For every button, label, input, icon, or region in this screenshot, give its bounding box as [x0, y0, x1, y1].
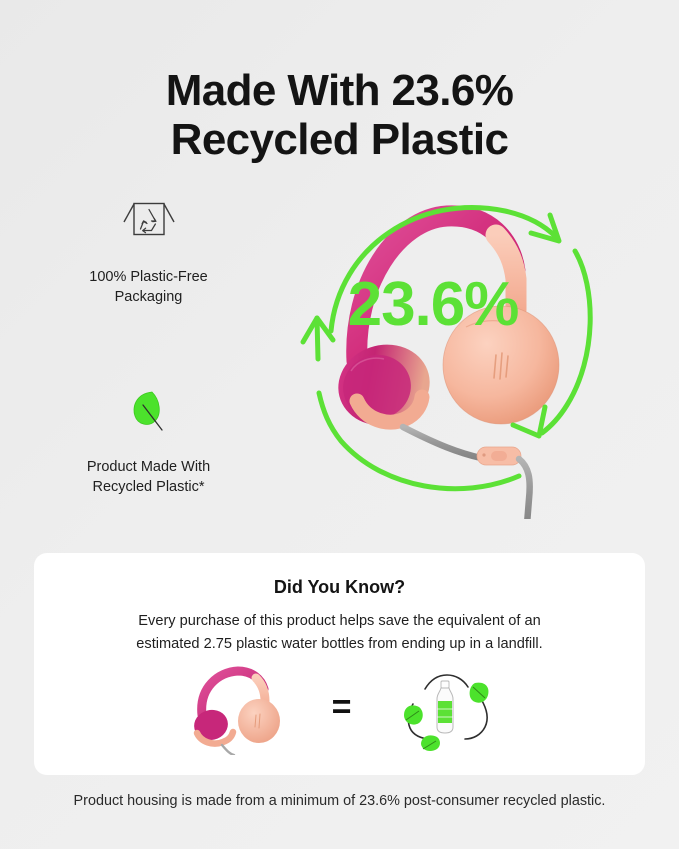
equals-sign: =: [332, 690, 352, 724]
card-body-line-1: Every purchase of this product helps sav…: [138, 613, 540, 629]
feature-label-line-2: Recycled Plastic*: [92, 479, 204, 495]
middle-section: 100% Plastic-Free Packaging Product Made…: [0, 185, 679, 530]
percentage-callout: 23.6%: [253, 274, 613, 336]
bottle-recycle-icon: [395, 665, 499, 753]
feature-label: 100% Plastic-Free Packaging: [36, 267, 261, 308]
footer-disclaimer: Product housing is made from a minimum o…: [0, 793, 679, 809]
feature-label-line-1: 100% Plastic-Free: [89, 269, 207, 285]
headphones-icon: [180, 663, 288, 755]
page-title-line-1: Made With 23.6%: [0, 66, 679, 115]
hero-graphic: 23.6%: [253, 179, 613, 519]
card-body-line-2: estimated 2.75 plastic water bottles fro…: [136, 636, 542, 652]
recycle-box-icon: [36, 193, 261, 255]
feature-label-line-1: Product Made With: [87, 459, 210, 475]
feature-label-line-2: Packaging: [115, 289, 183, 305]
infographic-page: Made With 23.6% Recycled Plastic: [0, 0, 679, 849]
page-title-line-2: Recycled Plastic: [0, 115, 679, 164]
recycling-arrows-loop: [253, 179, 613, 519]
feature-list: 100% Plastic-Free Packaging Product Made…: [36, 193, 261, 498]
did-you-know-card: Did You Know? Every purchase of this pro…: [34, 553, 645, 775]
equivalence-illustration: =: [34, 663, 645, 755]
feature-recycled-plastic: Product Made With Recycled Plastic*: [36, 383, 261, 498]
card-body: Every purchase of this product helps sav…: [34, 598, 645, 655]
page-title: Made With 23.6% Recycled Plastic: [0, 0, 679, 165]
feature-plastic-free-packaging: 100% Plastic-Free Packaging: [36, 193, 261, 308]
card-title: Did You Know?: [34, 553, 645, 598]
feature-label: Product Made With Recycled Plastic*: [36, 457, 261, 498]
leaf-icon: [36, 383, 261, 445]
